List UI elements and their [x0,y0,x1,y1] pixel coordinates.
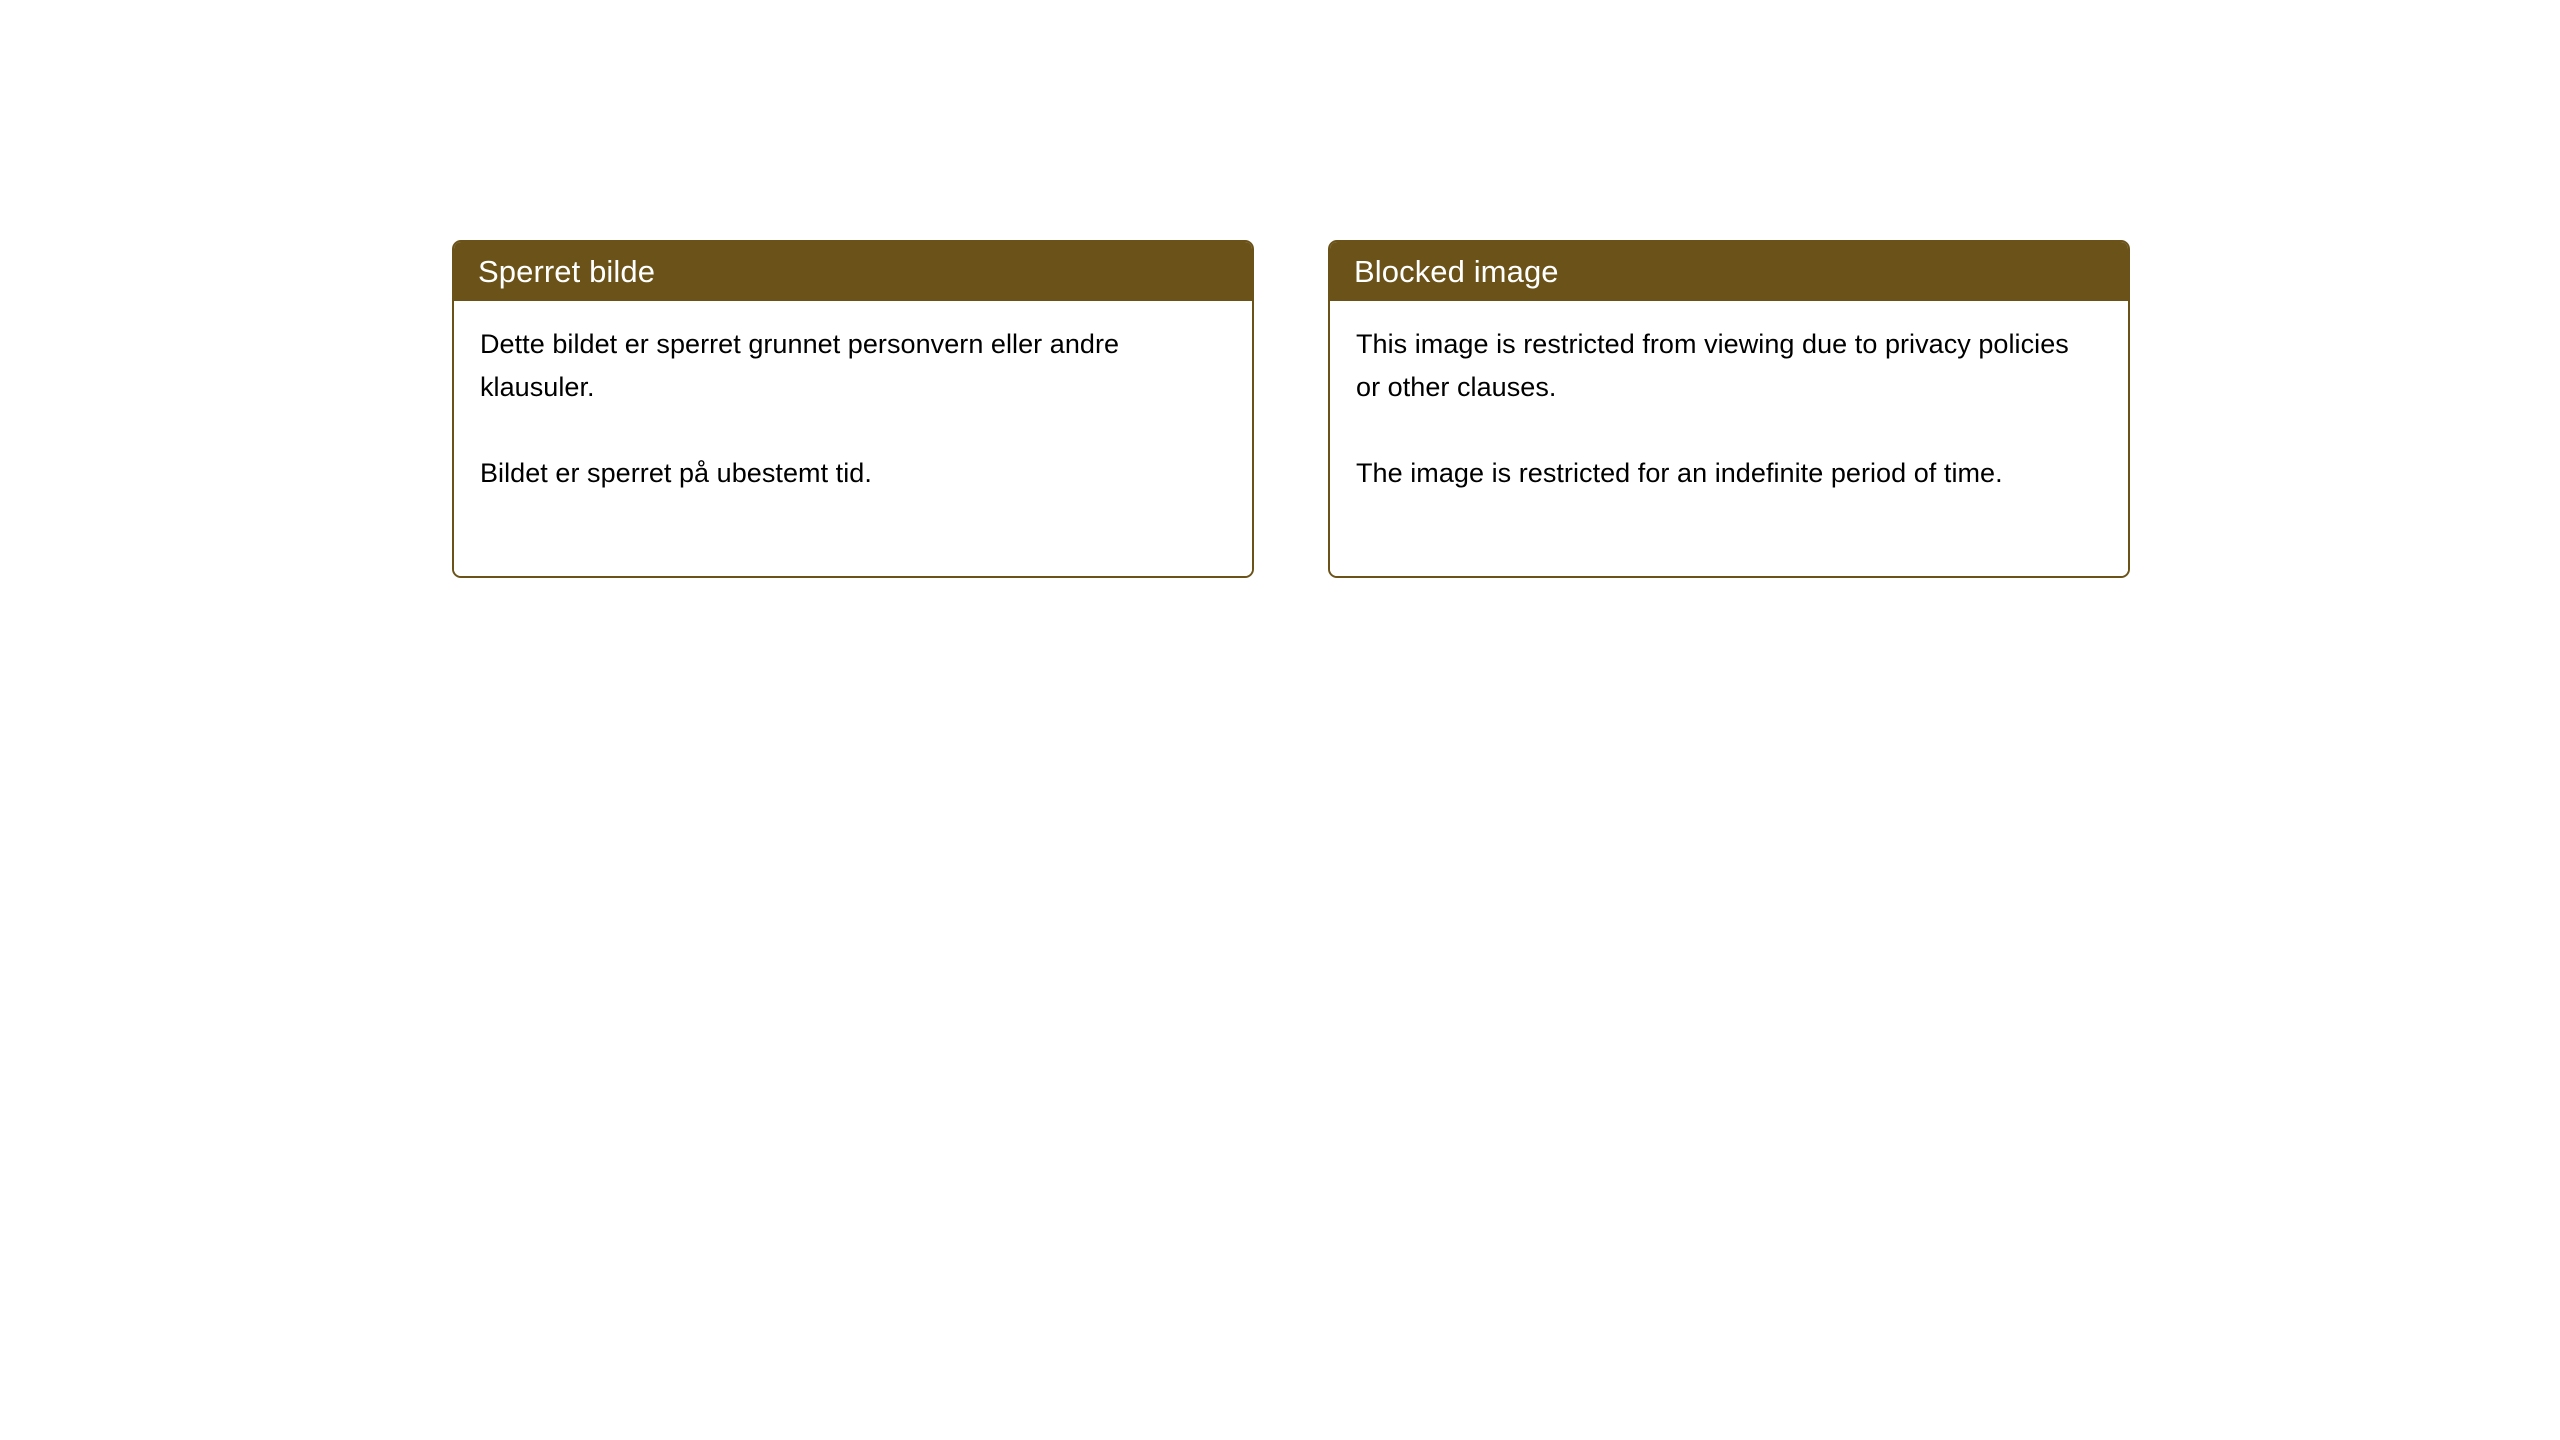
page-canvas: Sperret bilde Dette bildet er sperret gr… [0,0,2560,1440]
blocked-image-notice-card-en: Blocked image This image is restricted f… [1328,240,2130,578]
paragraph-spacer-no [480,409,1226,452]
card-paragraph-no-2: Bildet er sperret på ubestemt tid. [480,452,1220,495]
card-header-no: Sperret bilde [453,241,1253,301]
card-title-no: Sperret bilde [478,256,655,287]
card-body-en: This image is restricted from viewing du… [1330,301,2128,576]
card-paragraph-en-1: This image is restricted from viewing du… [1356,323,2096,409]
paragraph-spacer-en [1356,409,2102,452]
card-paragraph-no-1: Dette bildet er sperret grunnet personve… [480,323,1220,409]
card-body-no: Dette bildet er sperret grunnet personve… [454,301,1252,576]
card-title-en: Blocked image [1354,256,1559,287]
card-paragraph-en-2: The image is restricted for an indefinit… [1356,452,2096,495]
blocked-image-notice-card-no: Sperret bilde Dette bildet er sperret gr… [452,240,1254,578]
card-header-en: Blocked image [1329,241,2129,301]
